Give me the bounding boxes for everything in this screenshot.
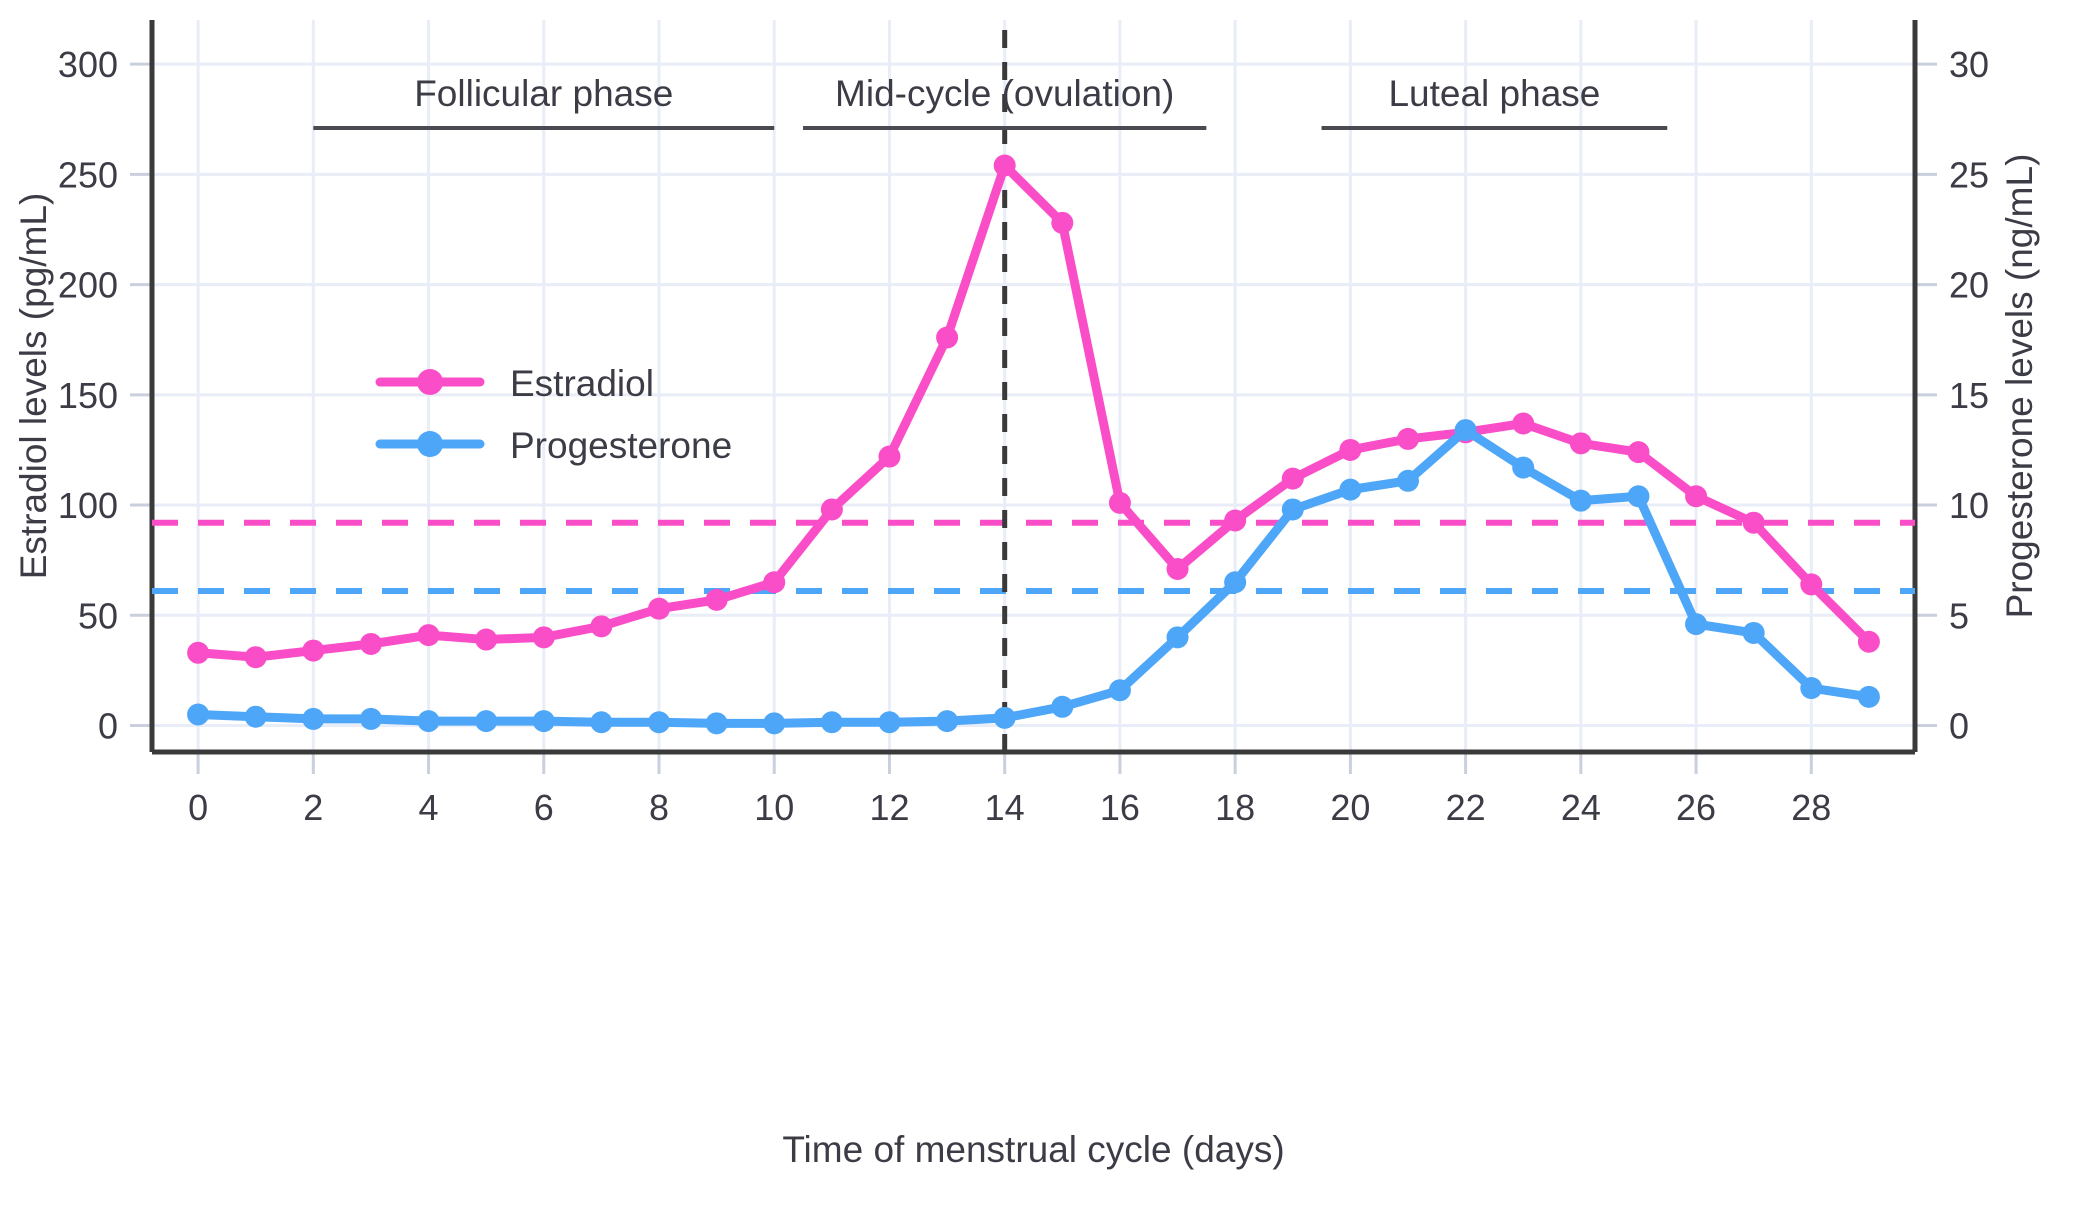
data-point-estradiol (360, 633, 382, 655)
data-point-progesterone (1512, 457, 1534, 479)
data-point-progesterone (994, 707, 1016, 729)
data-point-estradiol (475, 629, 497, 651)
data-point-progesterone (245, 706, 267, 728)
legend-swatch-marker[interactable] (417, 369, 443, 395)
data-point-progesterone (936, 710, 958, 732)
data-point-progesterone (1858, 686, 1880, 708)
data-point-estradiol (533, 626, 555, 648)
data-point-estradiol (878, 446, 900, 468)
yaxis-left-tick-label: 100 (58, 485, 118, 526)
xaxis-tick-label: 6 (534, 787, 554, 828)
legend-swatch-marker[interactable] (417, 431, 443, 457)
xaxis-tick-label: 24 (1561, 787, 1601, 828)
line-chart: Follicular phaseMid-cycle (ovulation)Lut… (0, 0, 2077, 1208)
chart-legend: EstradiolProgesterone (380, 363, 732, 466)
legend-label-estradiol[interactable]: Estradiol (510, 363, 654, 404)
data-point-estradiol (1627, 441, 1649, 463)
axis-tickmarks (130, 64, 1937, 774)
xaxis-tick-label: 20 (1330, 787, 1370, 828)
yaxis-left-tick-label: 200 (58, 265, 118, 306)
data-point-progesterone (475, 710, 497, 732)
data-point-progesterone (1224, 571, 1246, 593)
yaxis-right-tick-label: 15 (1949, 375, 1989, 416)
yaxis-right-tick-label: 5 (1949, 595, 1969, 636)
text-labels-layer: Follicular phaseMid-cycle (ovulation)Lut… (13, 44, 2040, 1170)
xaxis-tick-label: 26 (1676, 787, 1716, 828)
yaxis-left-tick-label: 50 (78, 595, 118, 636)
data-point-estradiol (1167, 558, 1189, 580)
yaxis-right-tick-label: 25 (1949, 154, 1989, 195)
data-point-progesterone (187, 704, 209, 726)
phase-annotation-label: Luteal phase (1388, 73, 1600, 114)
series-line-progesterone (198, 430, 1869, 723)
data-point-estradiol (1339, 439, 1361, 461)
data-point-progesterone (1397, 470, 1419, 492)
data-point-progesterone (302, 708, 324, 730)
data-point-estradiol (1397, 428, 1419, 450)
data-point-estradiol (245, 646, 267, 668)
data-point-progesterone (1167, 626, 1189, 648)
data-point-estradiol (821, 498, 843, 520)
data-point-progesterone (1743, 622, 1765, 644)
data-point-estradiol (1570, 432, 1592, 454)
xaxis-tick-label: 4 (419, 787, 439, 828)
yaxis-right-tick-label: 20 (1949, 265, 1989, 306)
xaxis-tick-label: 10 (754, 787, 794, 828)
chart-container: Follicular phaseMid-cycle (ovulation)Lut… (0, 0, 2077, 1208)
data-point-progesterone (360, 708, 382, 730)
data-point-estradiol (418, 624, 440, 646)
data-point-estradiol (1743, 512, 1765, 534)
data-point-progesterone (706, 712, 728, 734)
data-point-progesterone (1051, 696, 1073, 718)
data-point-estradiol (187, 642, 209, 664)
data-point-estradiol (1858, 631, 1880, 653)
data-point-estradiol (936, 326, 958, 348)
data-point-progesterone (1339, 479, 1361, 501)
xaxis-tick-label: 22 (1446, 787, 1486, 828)
xaxis-title: Time of menstrual cycle (days) (782, 1129, 1284, 1170)
data-point-estradiol (1224, 509, 1246, 531)
data-point-progesterone (1627, 485, 1649, 507)
data-point-estradiol (1800, 573, 1822, 595)
xaxis-tick-label: 8 (649, 787, 669, 828)
data-point-progesterone (763, 712, 785, 734)
data-point-progesterone (1282, 498, 1304, 520)
data-point-estradiol (1685, 485, 1707, 507)
yaxis-left-tick-label: 150 (58, 375, 118, 416)
data-point-progesterone (878, 711, 900, 733)
data-point-estradiol (1051, 212, 1073, 234)
data-point-progesterone (418, 710, 440, 732)
xaxis-tick-label: 14 (985, 787, 1025, 828)
yaxis-right-tick-label: 0 (1949, 706, 1969, 747)
data-point-estradiol (1512, 412, 1534, 434)
xaxis-tick-label: 16 (1100, 787, 1140, 828)
xaxis-tick-label: 28 (1791, 787, 1831, 828)
xaxis-tick-label: 12 (869, 787, 909, 828)
data-point-estradiol (706, 589, 728, 611)
yaxis-right-tick-label: 30 (1949, 44, 1989, 85)
xaxis-tick-label: 18 (1215, 787, 1255, 828)
data-point-progesterone (1800, 677, 1822, 699)
legend-label-progesterone[interactable]: Progesterone (510, 425, 732, 466)
data-point-estradiol (1282, 468, 1304, 490)
yaxis-left-tick-label: 0 (98, 706, 118, 747)
data-point-estradiol (590, 615, 612, 637)
xaxis-tick-label: 0 (188, 787, 208, 828)
data-point-estradiol (302, 640, 324, 662)
data-point-progesterone (1109, 679, 1131, 701)
data-point-progesterone (648, 711, 670, 733)
series-line-estradiol (198, 166, 1869, 658)
data-point-progesterone (1570, 490, 1592, 512)
data-point-progesterone (533, 710, 555, 732)
data-point-progesterone (821, 711, 843, 733)
data-point-progesterone (1455, 419, 1477, 441)
data-point-progesterone (590, 711, 612, 733)
phase-annotation-label: Mid-cycle (ovulation) (835, 73, 1174, 114)
yaxis-right-title: Progesterone levels (ng/mL) (1999, 154, 2040, 619)
data-point-progesterone (1685, 613, 1707, 635)
yaxis-left-tick-label: 300 (58, 44, 118, 85)
yaxis-left-tick-label: 250 (58, 154, 118, 195)
yaxis-left-title: Estradiol levels (pg/mL) (13, 193, 54, 580)
data-point-estradiol (994, 155, 1016, 177)
data-point-estradiol (1109, 492, 1131, 514)
phase-annotation-label: Follicular phase (414, 73, 673, 114)
data-point-estradiol (648, 598, 670, 620)
data-point-estradiol (763, 571, 785, 593)
xaxis-tick-label: 2 (303, 787, 323, 828)
yaxis-right-tick-label: 10 (1949, 485, 1989, 526)
